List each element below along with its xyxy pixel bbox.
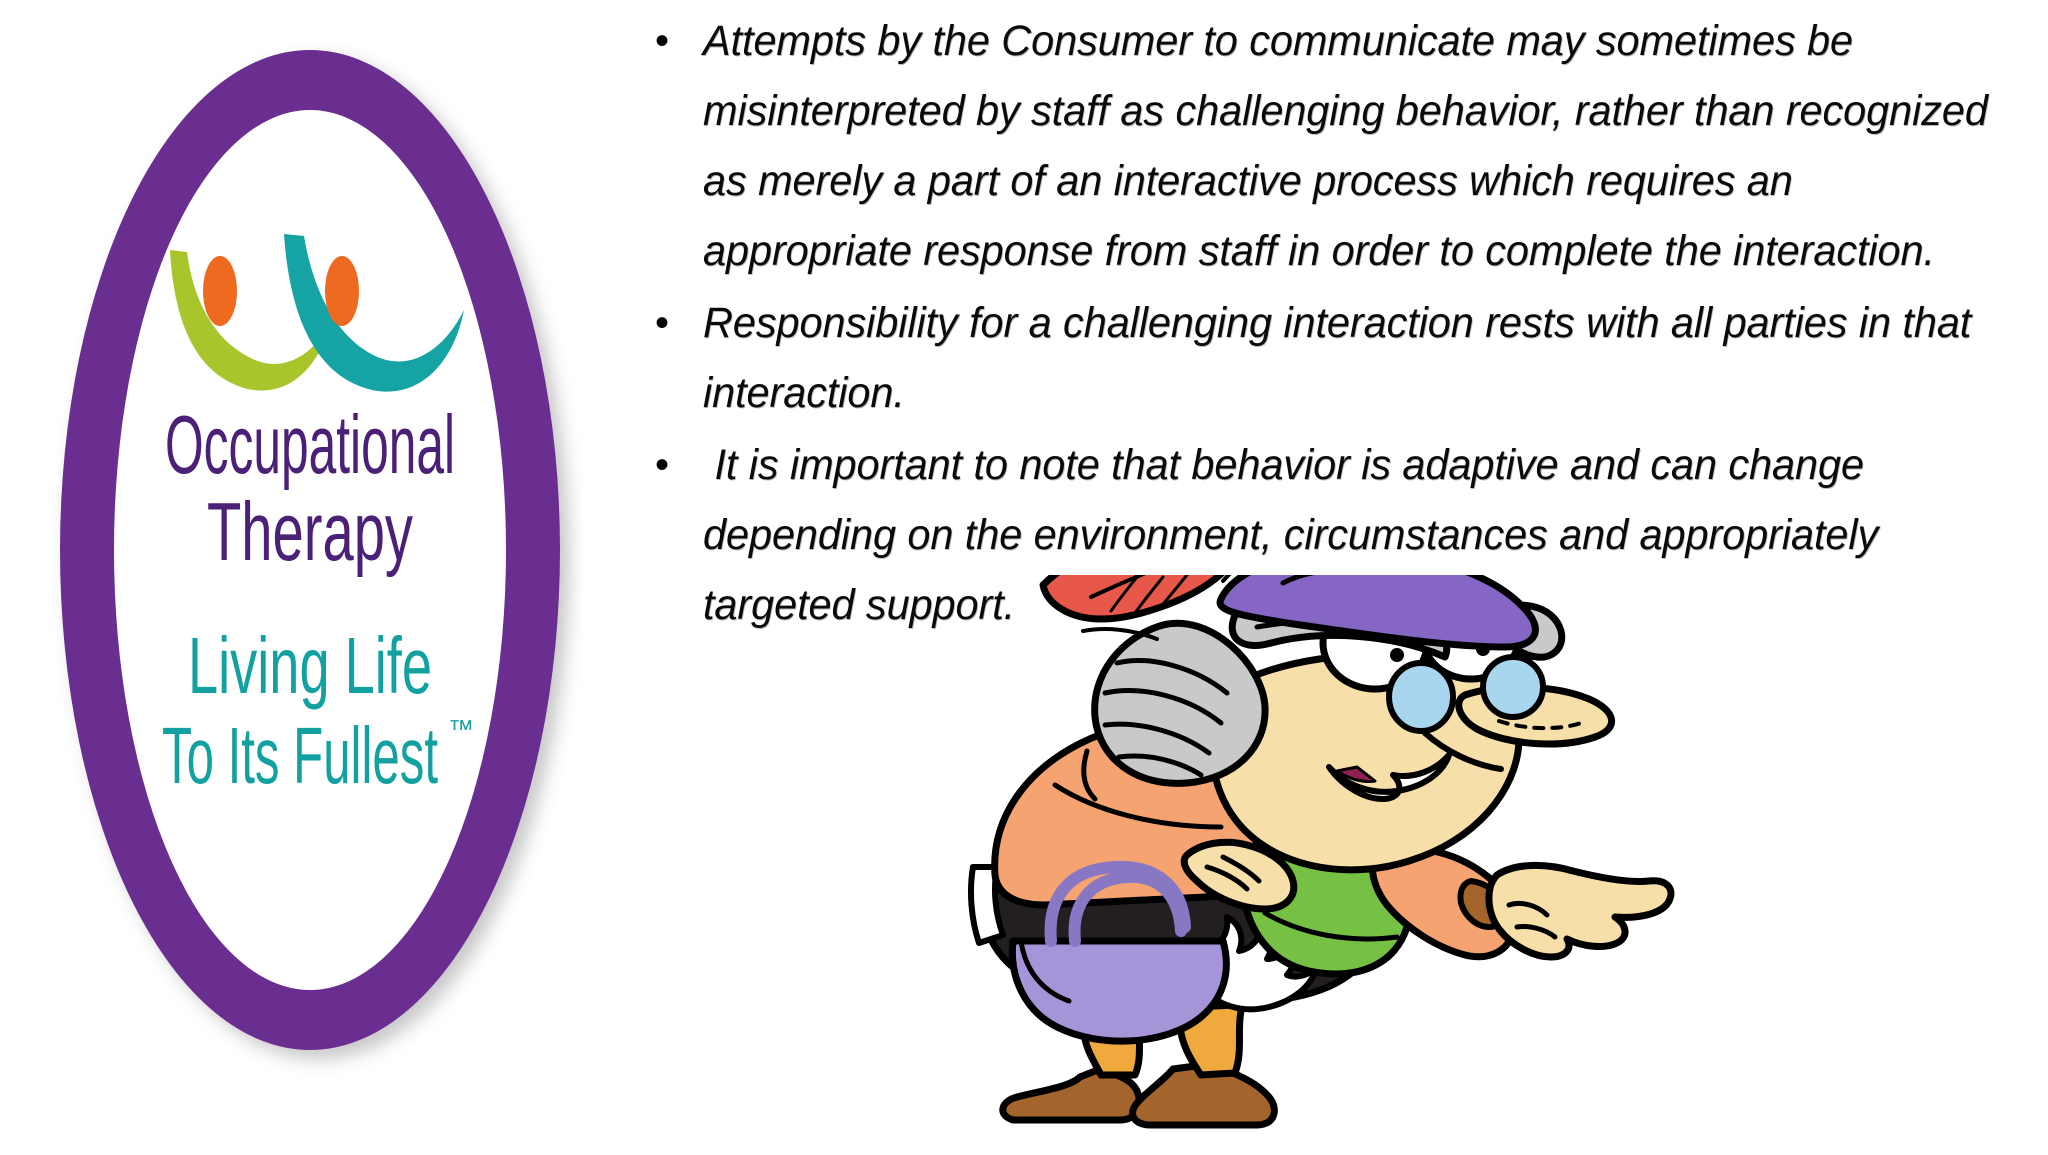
slide-canvas: Occupational Therapy Living Life To Its … — [0, 0, 2048, 1152]
pupil-left — [1390, 648, 1404, 662]
bullet-marker-icon — [655, 288, 703, 358]
bullet-marker-icon — [655, 430, 703, 500]
glasses-lens-right — [1483, 657, 1543, 717]
logo-line-occupational: Occupational — [165, 398, 455, 491]
occupational-therapy-logo: Occupational Therapy Living Life To Its … — [52, 38, 582, 1098]
list-item: Attempts by the Consumer to communicate … — [655, 6, 2035, 286]
pointing-hand — [1489, 865, 1671, 957]
bullet-text: Responsibility for a challenging interac… — [703, 288, 1988, 428]
logo-line-therapy: Therapy — [207, 485, 413, 578]
bullet-list: Attempts by the Consumer to communicate … — [655, 6, 2035, 642]
feather — [1043, 575, 1235, 619]
hair-bun — [1095, 623, 1265, 783]
mark-head-left — [203, 256, 237, 326]
angry-old-woman-pointing-clipart — [905, 575, 1695, 1155]
bullet-marker-icon — [655, 6, 703, 76]
glasses-lens-left — [1389, 663, 1453, 731]
bullet-text: Attempts by the Consumer to communicate … — [703, 6, 1988, 286]
logo-line-to-its-fullest: To Its Fullest — [162, 711, 438, 800]
handbag-body — [1012, 941, 1226, 1041]
mark-head-right — [325, 256, 359, 326]
cartoon-svg — [905, 575, 1695, 1155]
trademark-symbol: ™ — [448, 714, 474, 744]
list-item: Responsibility for a challenging interac… — [655, 288, 2035, 428]
logo-svg: Occupational Therapy Living Life To Its … — [52, 38, 582, 1098]
logo-line-living-life: Living Life — [188, 621, 432, 710]
